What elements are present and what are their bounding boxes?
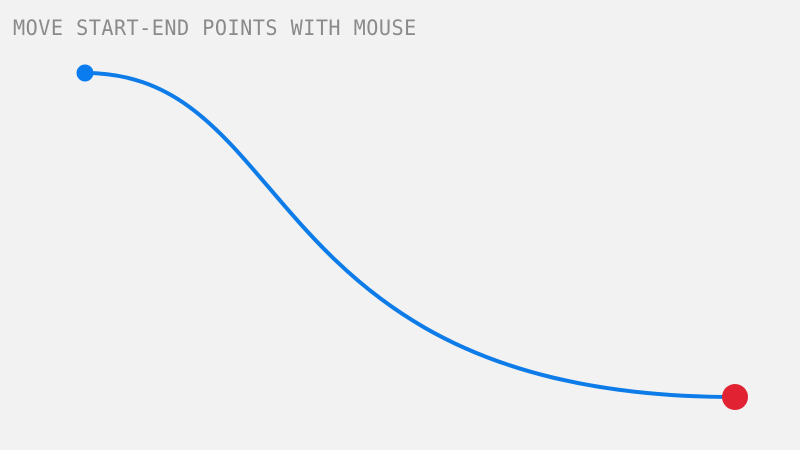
bezier-editor-window: MOVE START-END POINTS WITH MOUSE <box>0 0 800 450</box>
end-point-handle[interactable] <box>722 384 748 410</box>
bezier-curve-svg <box>0 0 800 450</box>
page-title: MOVE START-END POINTS WITH MOUSE <box>13 16 417 40</box>
curve-canvas[interactable]: MOVE START-END POINTS WITH MOUSE <box>0 0 800 450</box>
bezier-curve-path <box>85 73 735 397</box>
start-point-handle[interactable] <box>77 65 94 82</box>
